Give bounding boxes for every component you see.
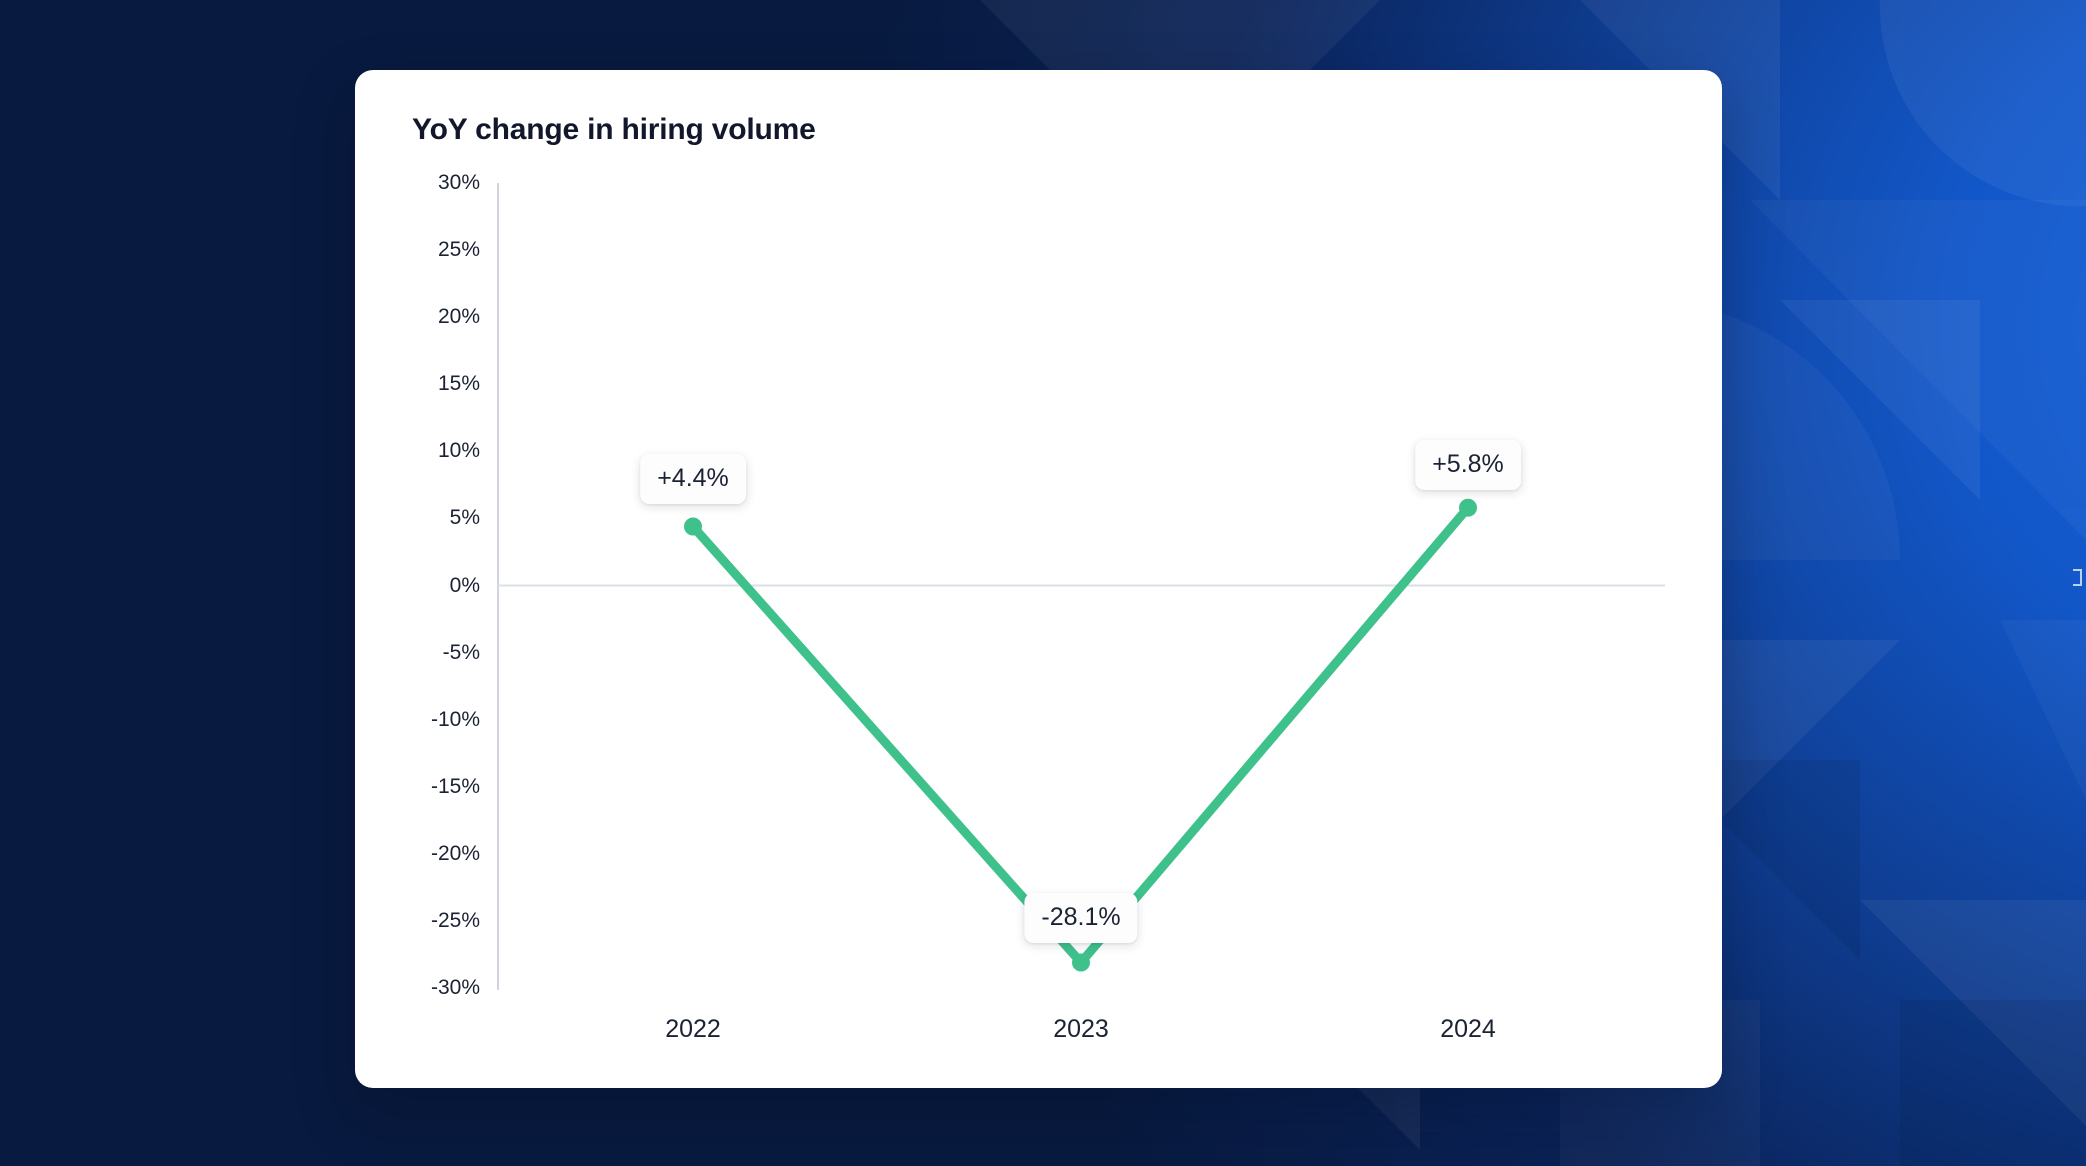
y-tick-label: -5% <box>360 641 480 665</box>
y-tick-label: -15% <box>360 775 480 799</box>
data-point-2022 <box>684 518 702 536</box>
y-tick-label: 0% <box>360 574 480 598</box>
y-tick-label: -20% <box>360 842 480 866</box>
line-chart: 30% 25% 20% 15% 10% 5% 0% -5% -10% -15% … <box>355 70 1722 1088</box>
y-tick-label: -25% <box>360 909 480 933</box>
data-point-2023 <box>1072 954 1090 972</box>
y-tick-label: 30% <box>360 171 480 195</box>
y-tick-label: 20% <box>360 305 480 329</box>
data-label-2022: +4.4% <box>640 454 746 504</box>
y-tick-label: 15% <box>360 372 480 396</box>
y-tick-label: 10% <box>360 439 480 463</box>
page-background: YoY change in hiring volume 30% 25% 20% … <box>0 0 2086 1166</box>
y-tick-label: 5% <box>360 506 480 530</box>
y-tick-label: -30% <box>360 976 480 1000</box>
chart-card: YoY change in hiring volume 30% 25% 20% … <box>355 70 1722 1088</box>
y-tick-label: 25% <box>360 238 480 262</box>
x-tick-label-2024: 2024 <box>1440 1015 1496 1044</box>
data-label-2023: -28.1% <box>1024 893 1137 943</box>
data-point-2024 <box>1459 499 1477 517</box>
x-tick-label-2023: 2023 <box>1053 1015 1109 1044</box>
y-tick-label: -10% <box>360 708 480 732</box>
data-label-2024: +5.8% <box>1415 440 1521 490</box>
edge-marker-artifact <box>2073 569 2082 586</box>
x-tick-label-2022: 2022 <box>665 1015 721 1044</box>
